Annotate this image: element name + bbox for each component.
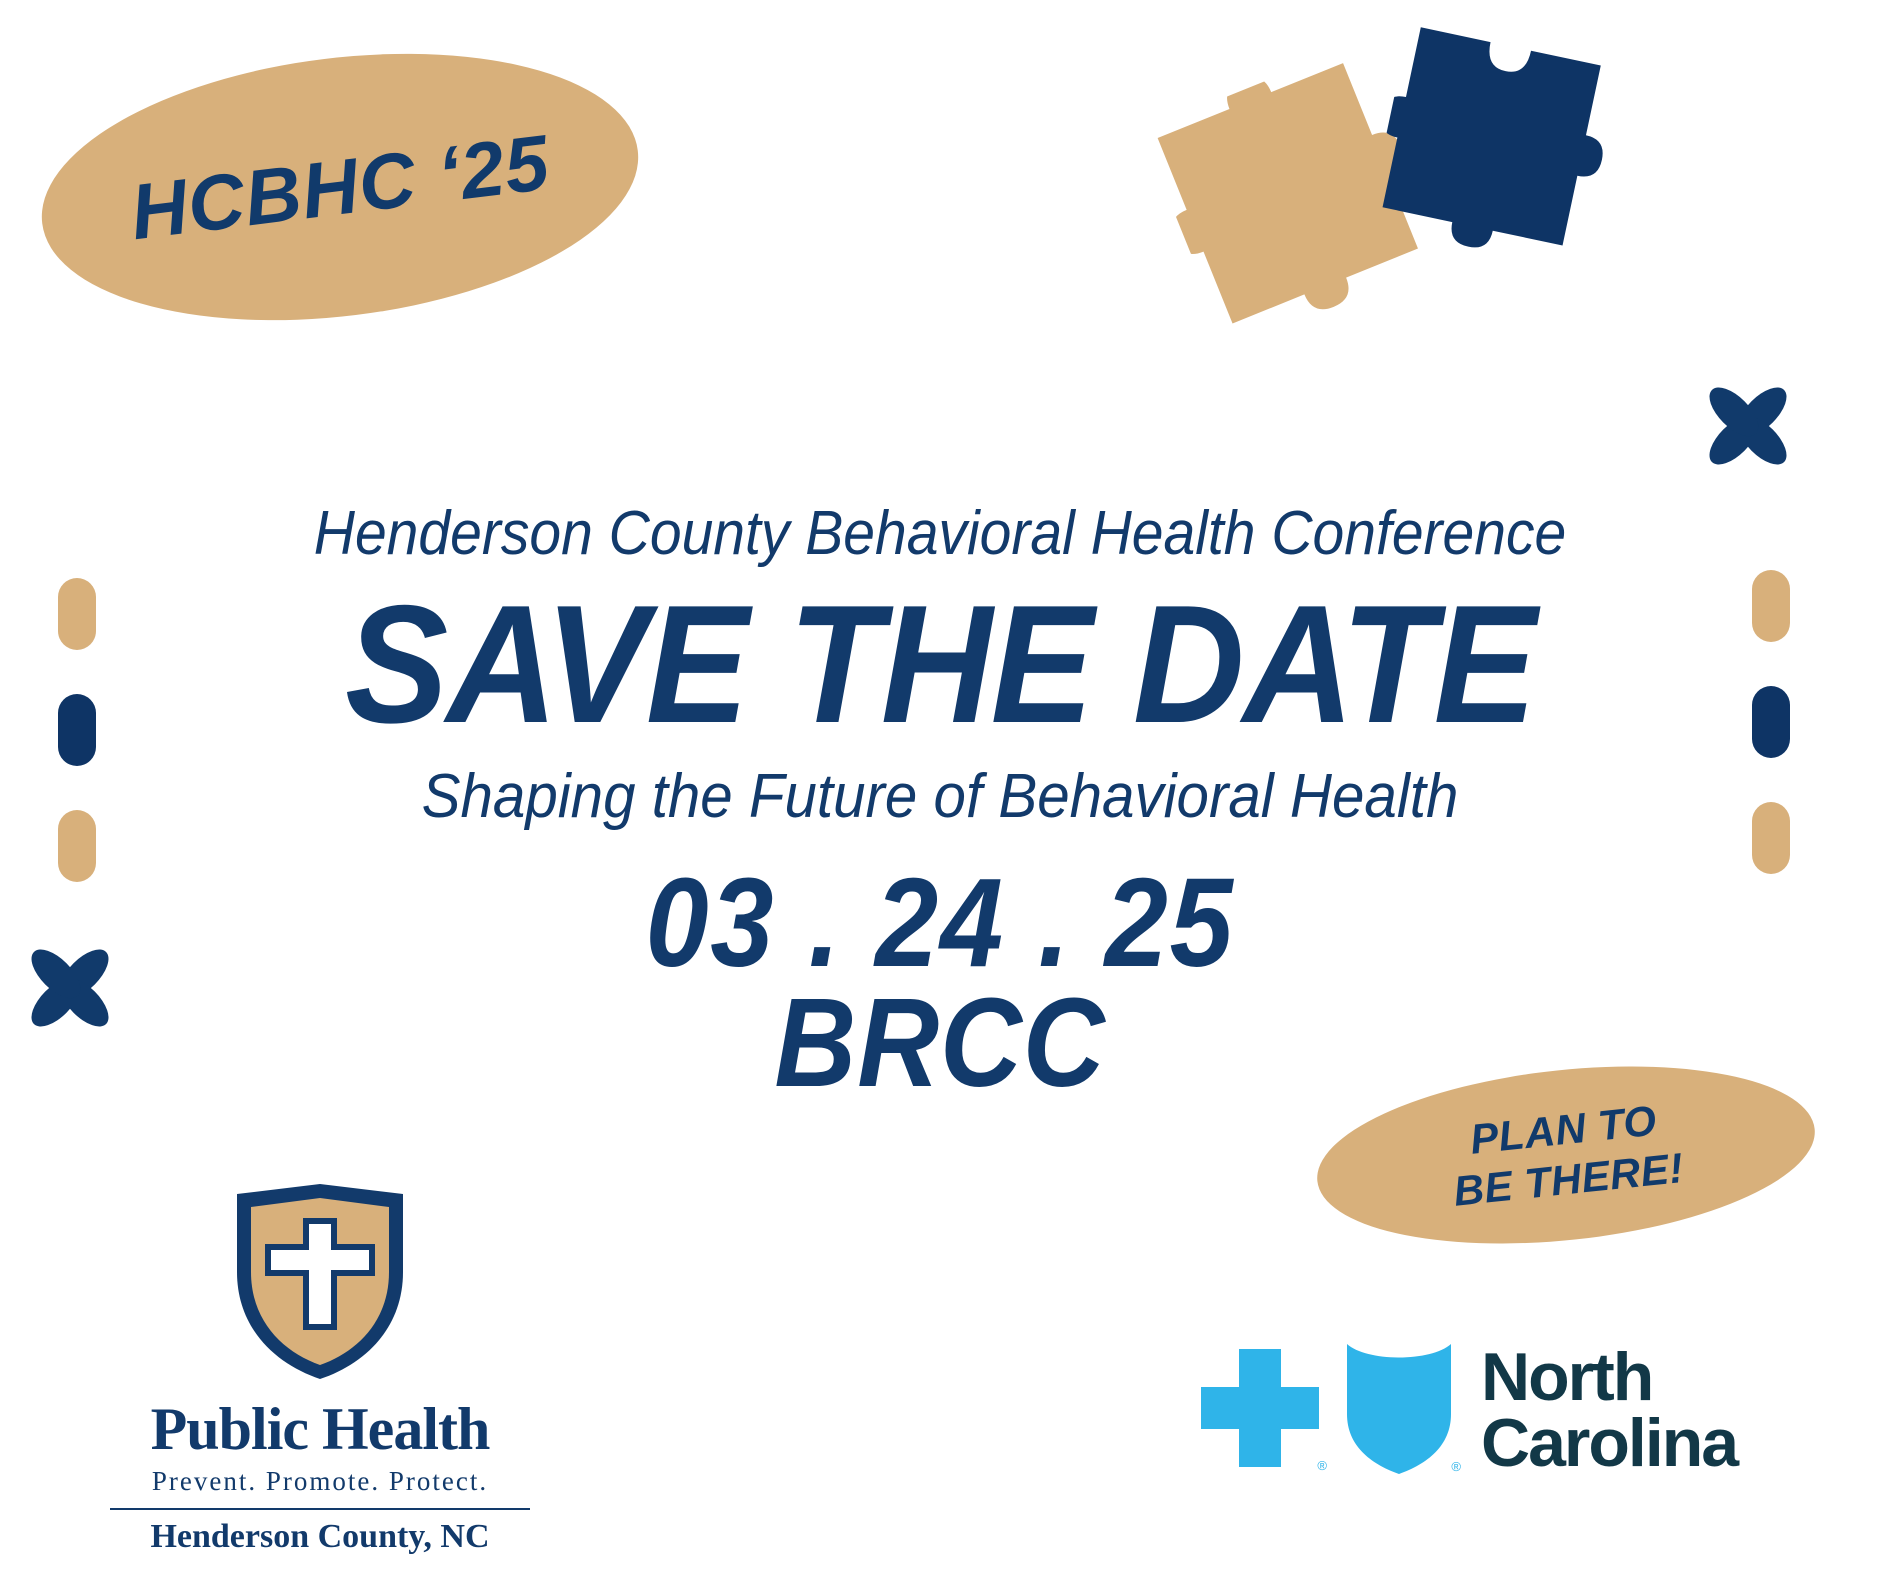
- puzzle-pieces-graphic: [1180, 30, 1600, 340]
- save-the-date-poster: HCBHC ‘25 Henderson County Behavio: [0, 0, 1880, 1576]
- public-health-county: Henderson County, NC: [110, 1518, 530, 1556]
- hcbhc-badge: HCBHC ‘25: [27, 22, 654, 351]
- tagline: Shaping the Future of Behavioral Health: [56, 763, 1823, 831]
- hcbhc-badge-label: HCBHC ‘25: [126, 116, 555, 258]
- conference-name: Henderson County Behavioral Health Confe…: [75, 500, 1805, 568]
- bcbs-wordmark: North Carolina: [1481, 1345, 1737, 1476]
- shield-icon: [110, 1180, 530, 1385]
- flower-icon-right: [1700, 378, 1796, 474]
- public-health-tagline: Prevent. Promote. Protect.: [110, 1466, 530, 1497]
- bcbs-wordmark-line-2: Carolina: [1481, 1411, 1737, 1476]
- bcbs-north-carolina-logo: ® ® North Carolina: [1195, 1340, 1737, 1481]
- blue-shield-registered-mark: ®: [1451, 1460, 1461, 1473]
- event-date: 03 . 24 . 25: [94, 859, 1786, 988]
- public-health-logo: Public Health Prevent. Promote. Protect.…: [110, 1180, 530, 1556]
- main-content: Henderson County Behavioral Health Confe…: [0, 500, 1880, 1106]
- headline-save-the-date: SAVE THE DATE: [75, 582, 1805, 747]
- public-health-name: Public Health: [110, 1395, 530, 1464]
- blue-shield-icon: ®: [1343, 1340, 1455, 1481]
- bcbs-wordmark-line-1: North: [1481, 1345, 1737, 1410]
- logo-divider: [110, 1508, 530, 1510]
- blue-cross-registered-mark: ®: [1317, 1459, 1327, 1472]
- navy-puzzle-piece: [1363, 14, 1637, 292]
- blue-cross-icon: ®: [1195, 1343, 1325, 1478]
